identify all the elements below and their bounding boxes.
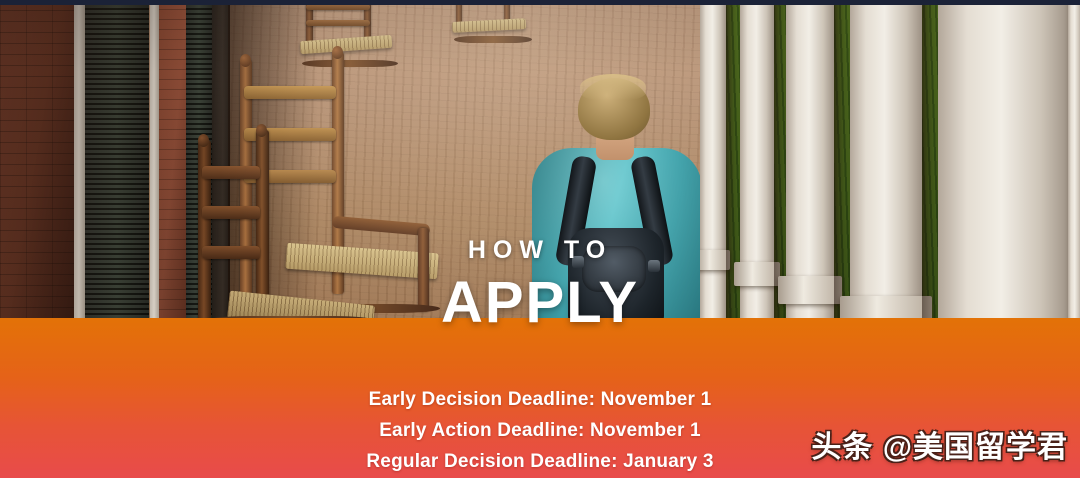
student-figure [520, 60, 720, 330]
backpack-buckle-left [572, 256, 584, 268]
column-3-base [778, 276, 842, 304]
top-edge-strip [0, 0, 1080, 5]
student-hair-highlight [580, 74, 646, 100]
hero-photo [0, 0, 1080, 330]
backpack-buckle-right [648, 260, 660, 272]
deadline-early-decision: Early Decision Deadline: November 1 [0, 384, 1080, 415]
backpack-pocket [582, 246, 646, 292]
column-4 [850, 0, 922, 330]
application-deadlines-banner: HOW TO APPLY Early Decision Deadline: No… [0, 0, 1080, 478]
watermark: 头条 @美国留学君 [811, 428, 1068, 468]
column-1 [700, 0, 726, 330]
colonnade [700, 0, 1080, 330]
column-6 [1068, 0, 1080, 330]
column-5 [938, 0, 1070, 330]
